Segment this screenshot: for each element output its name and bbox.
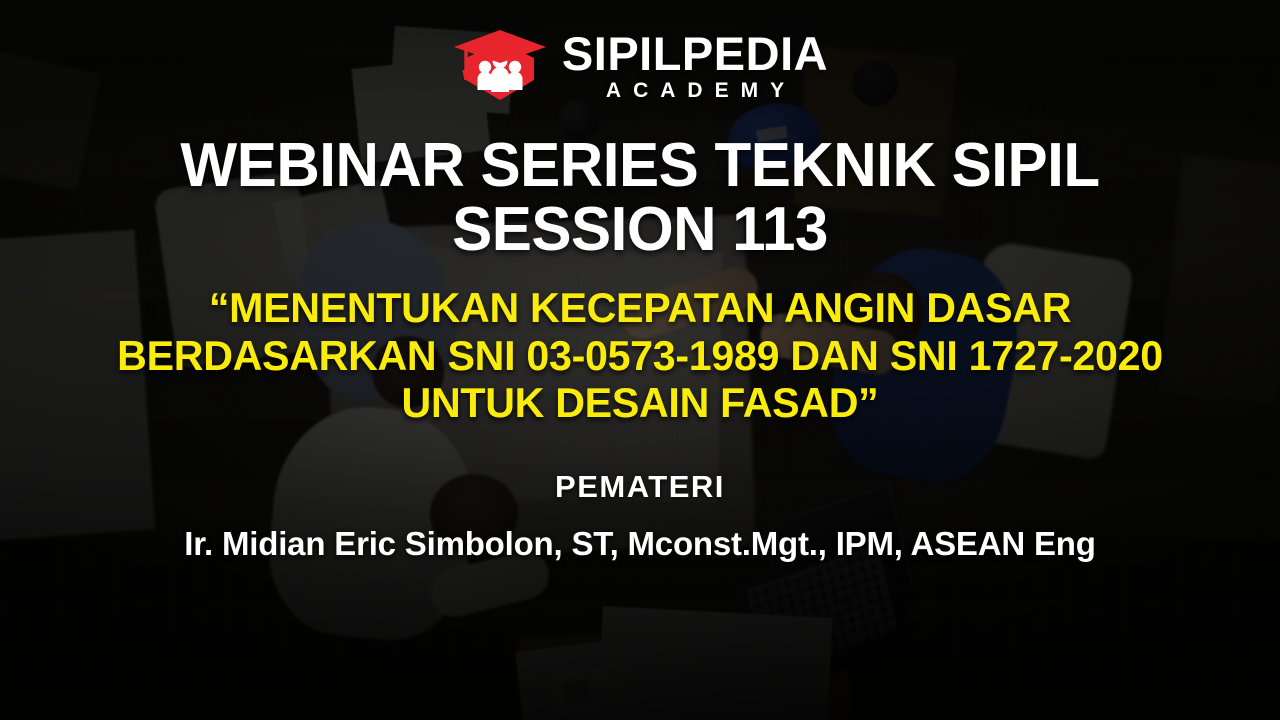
headline-line-1: WEBINAR SERIES TEKNIK SIPIL [58, 134, 1222, 198]
brand-sub-name: ACADEMY [606, 79, 796, 103]
brand-logo-lockup: SIPILPEDIA ACADEMY [452, 26, 828, 108]
brand-wordmark: SIPILPEDIA ACADEMY [562, 31, 828, 103]
webinar-poster: SIPILPEDIA ACADEMY WEBINAR SERIES TEKNIK… [0, 0, 1280, 720]
page-title: WEBINAR SERIES TEKNIK SIPIL SESSION 113 [58, 134, 1222, 262]
speaker-label: PEMATERI [555, 469, 725, 505]
brand-name: SIPILPEDIA [562, 31, 828, 77]
speaker-name: Ir. Midian Eric Simbolon, ST, Mconst.Mgt… [20, 525, 1260, 563]
graduation-cap-shield-people-icon [452, 28, 548, 106]
headline-line-2: SESSION 113 [58, 198, 1222, 262]
poster-content: SIPILPEDIA ACADEMY WEBINAR SERIES TEKNIK… [0, 0, 1280, 720]
webinar-topic: “MENENTUKAN KECEPATAN ANGIN DASAR BERDAS… [57, 284, 1223, 428]
